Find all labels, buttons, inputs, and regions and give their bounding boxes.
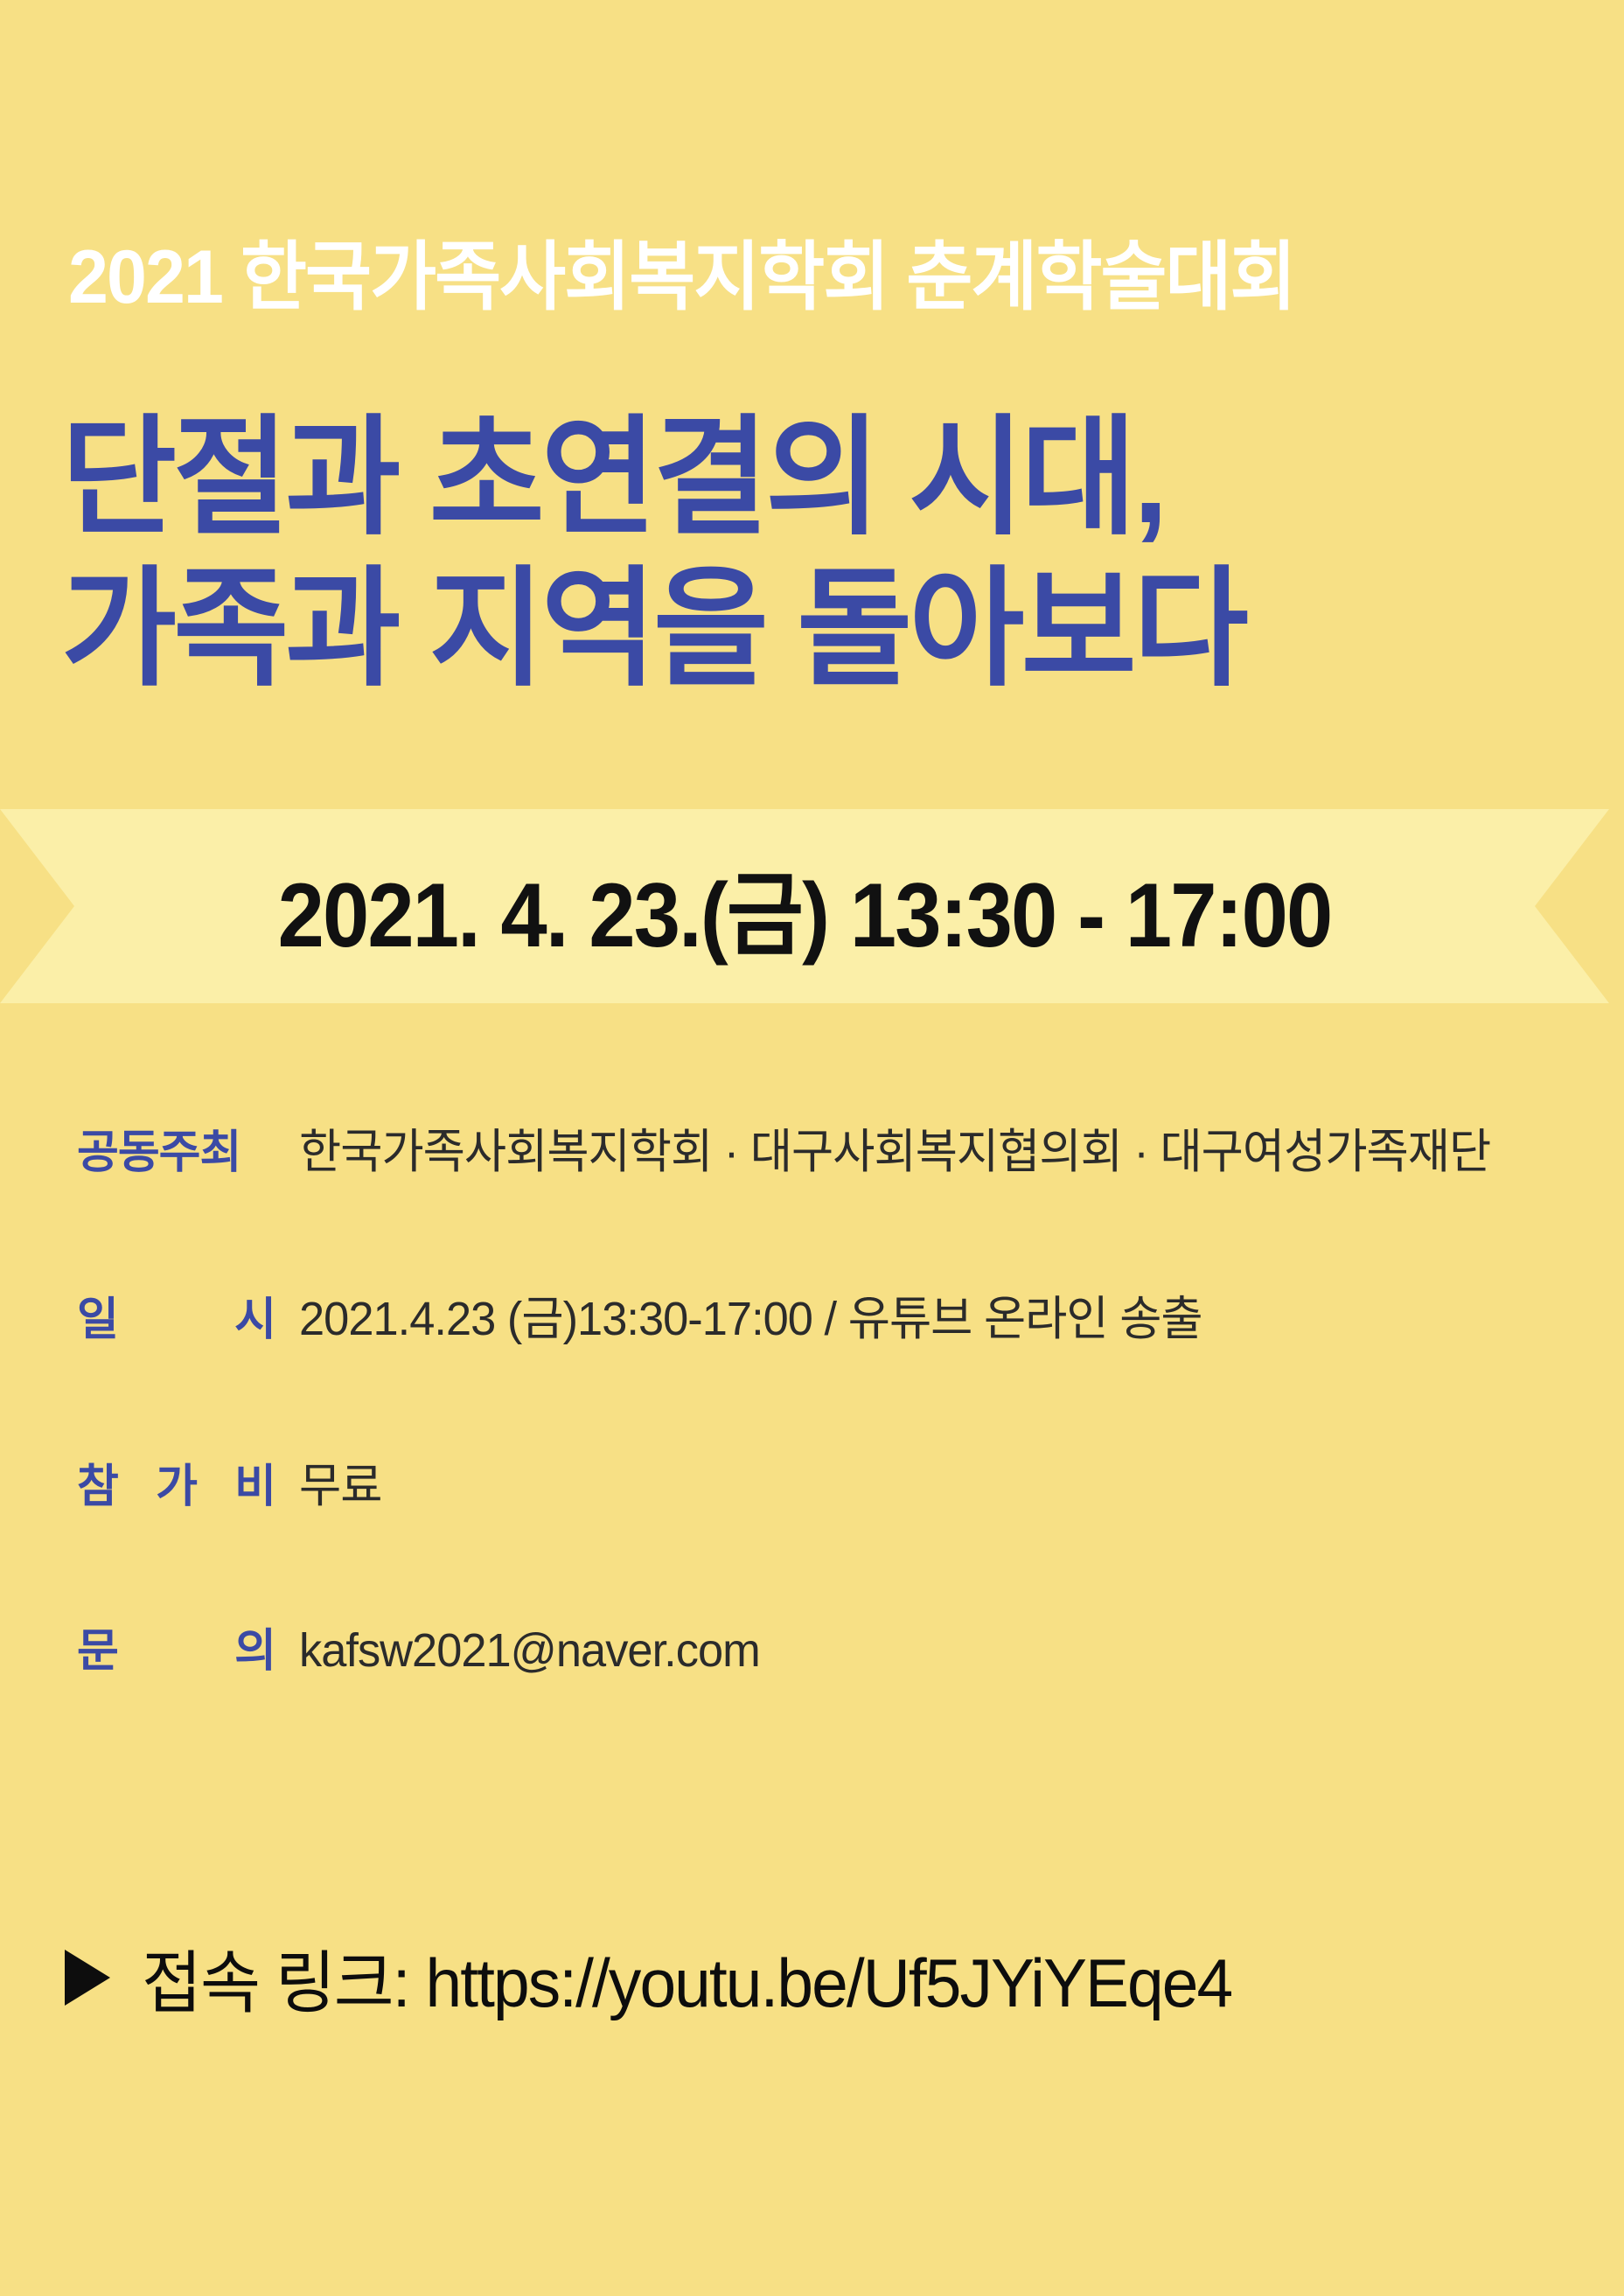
info-label-contact: 문 의 — [77, 1614, 276, 1679]
poster-canvas: 2021 한국가족사회복지학회 춘계학술대회 단절과 초연결의 시대, 가족과 … — [0, 0, 1624, 2296]
main-title-line-1: 단절과 초연결의 시대, — [61, 402, 1245, 554]
event-details-list: 공동주최 한국가족사회복지학회 · 대구사회복지협의회 · 대구여성가족재단 일… — [77, 1113, 1599, 1777]
info-value-datetime: 2021.4.23 (금)13:30-17:00 / 유튜브 온라인 송출 — [299, 1280, 1202, 1349]
access-link-row[interactable]: 접속 링크: https://youtu.be/Uf5JYiYEqe4 — [65, 1929, 1277, 2027]
info-row-fee: 참 가 비 무료 — [77, 1447, 1599, 1516]
main-title-line-2: 가족과 지역을 돌아보다 — [61, 554, 1245, 705]
play-triangle-icon — [65, 1950, 110, 2006]
info-row-datetime: 일 시 2021.4.23 (금)13:30-17:00 / 유튜브 온라인 송… — [77, 1280, 1599, 1349]
info-value-fee: 무료 — [299, 1447, 381, 1516]
info-label-fee: 참 가 비 — [77, 1449, 276, 1515]
event-eyebrow-title: 2021 한국가족사회복지학회 춘계학술대회 — [68, 238, 1295, 317]
info-label-datetime: 일 시 — [77, 1282, 276, 1348]
info-row-cohost: 공동주최 한국가족사회복지학회 · 대구사회복지협의회 · 대구여성가족재단 — [77, 1113, 1599, 1182]
access-link-text[interactable]: 접속 링크: https://youtu.be/Uf5JYiYEqe4 — [142, 1929, 1231, 2027]
info-value-contact[interactable]: kafsw2021@naver.com — [299, 1623, 760, 1678]
poster-main-title: 단절과 초연결의 시대, 가족과 지역을 돌아보다 — [61, 402, 1245, 705]
date-time-text: 2021. 4. 23.(금) 13:30 - 17:00 — [65, 809, 1545, 1003]
info-row-contact: 문 의 kafsw2021@naver.com — [77, 1614, 1599, 1679]
info-label-cohost: 공동주최 — [77, 1115, 276, 1181]
info-value-cohost: 한국가족사회복지학회 · 대구사회복지협의회 · 대구여성가족재단 — [299, 1113, 1490, 1182]
